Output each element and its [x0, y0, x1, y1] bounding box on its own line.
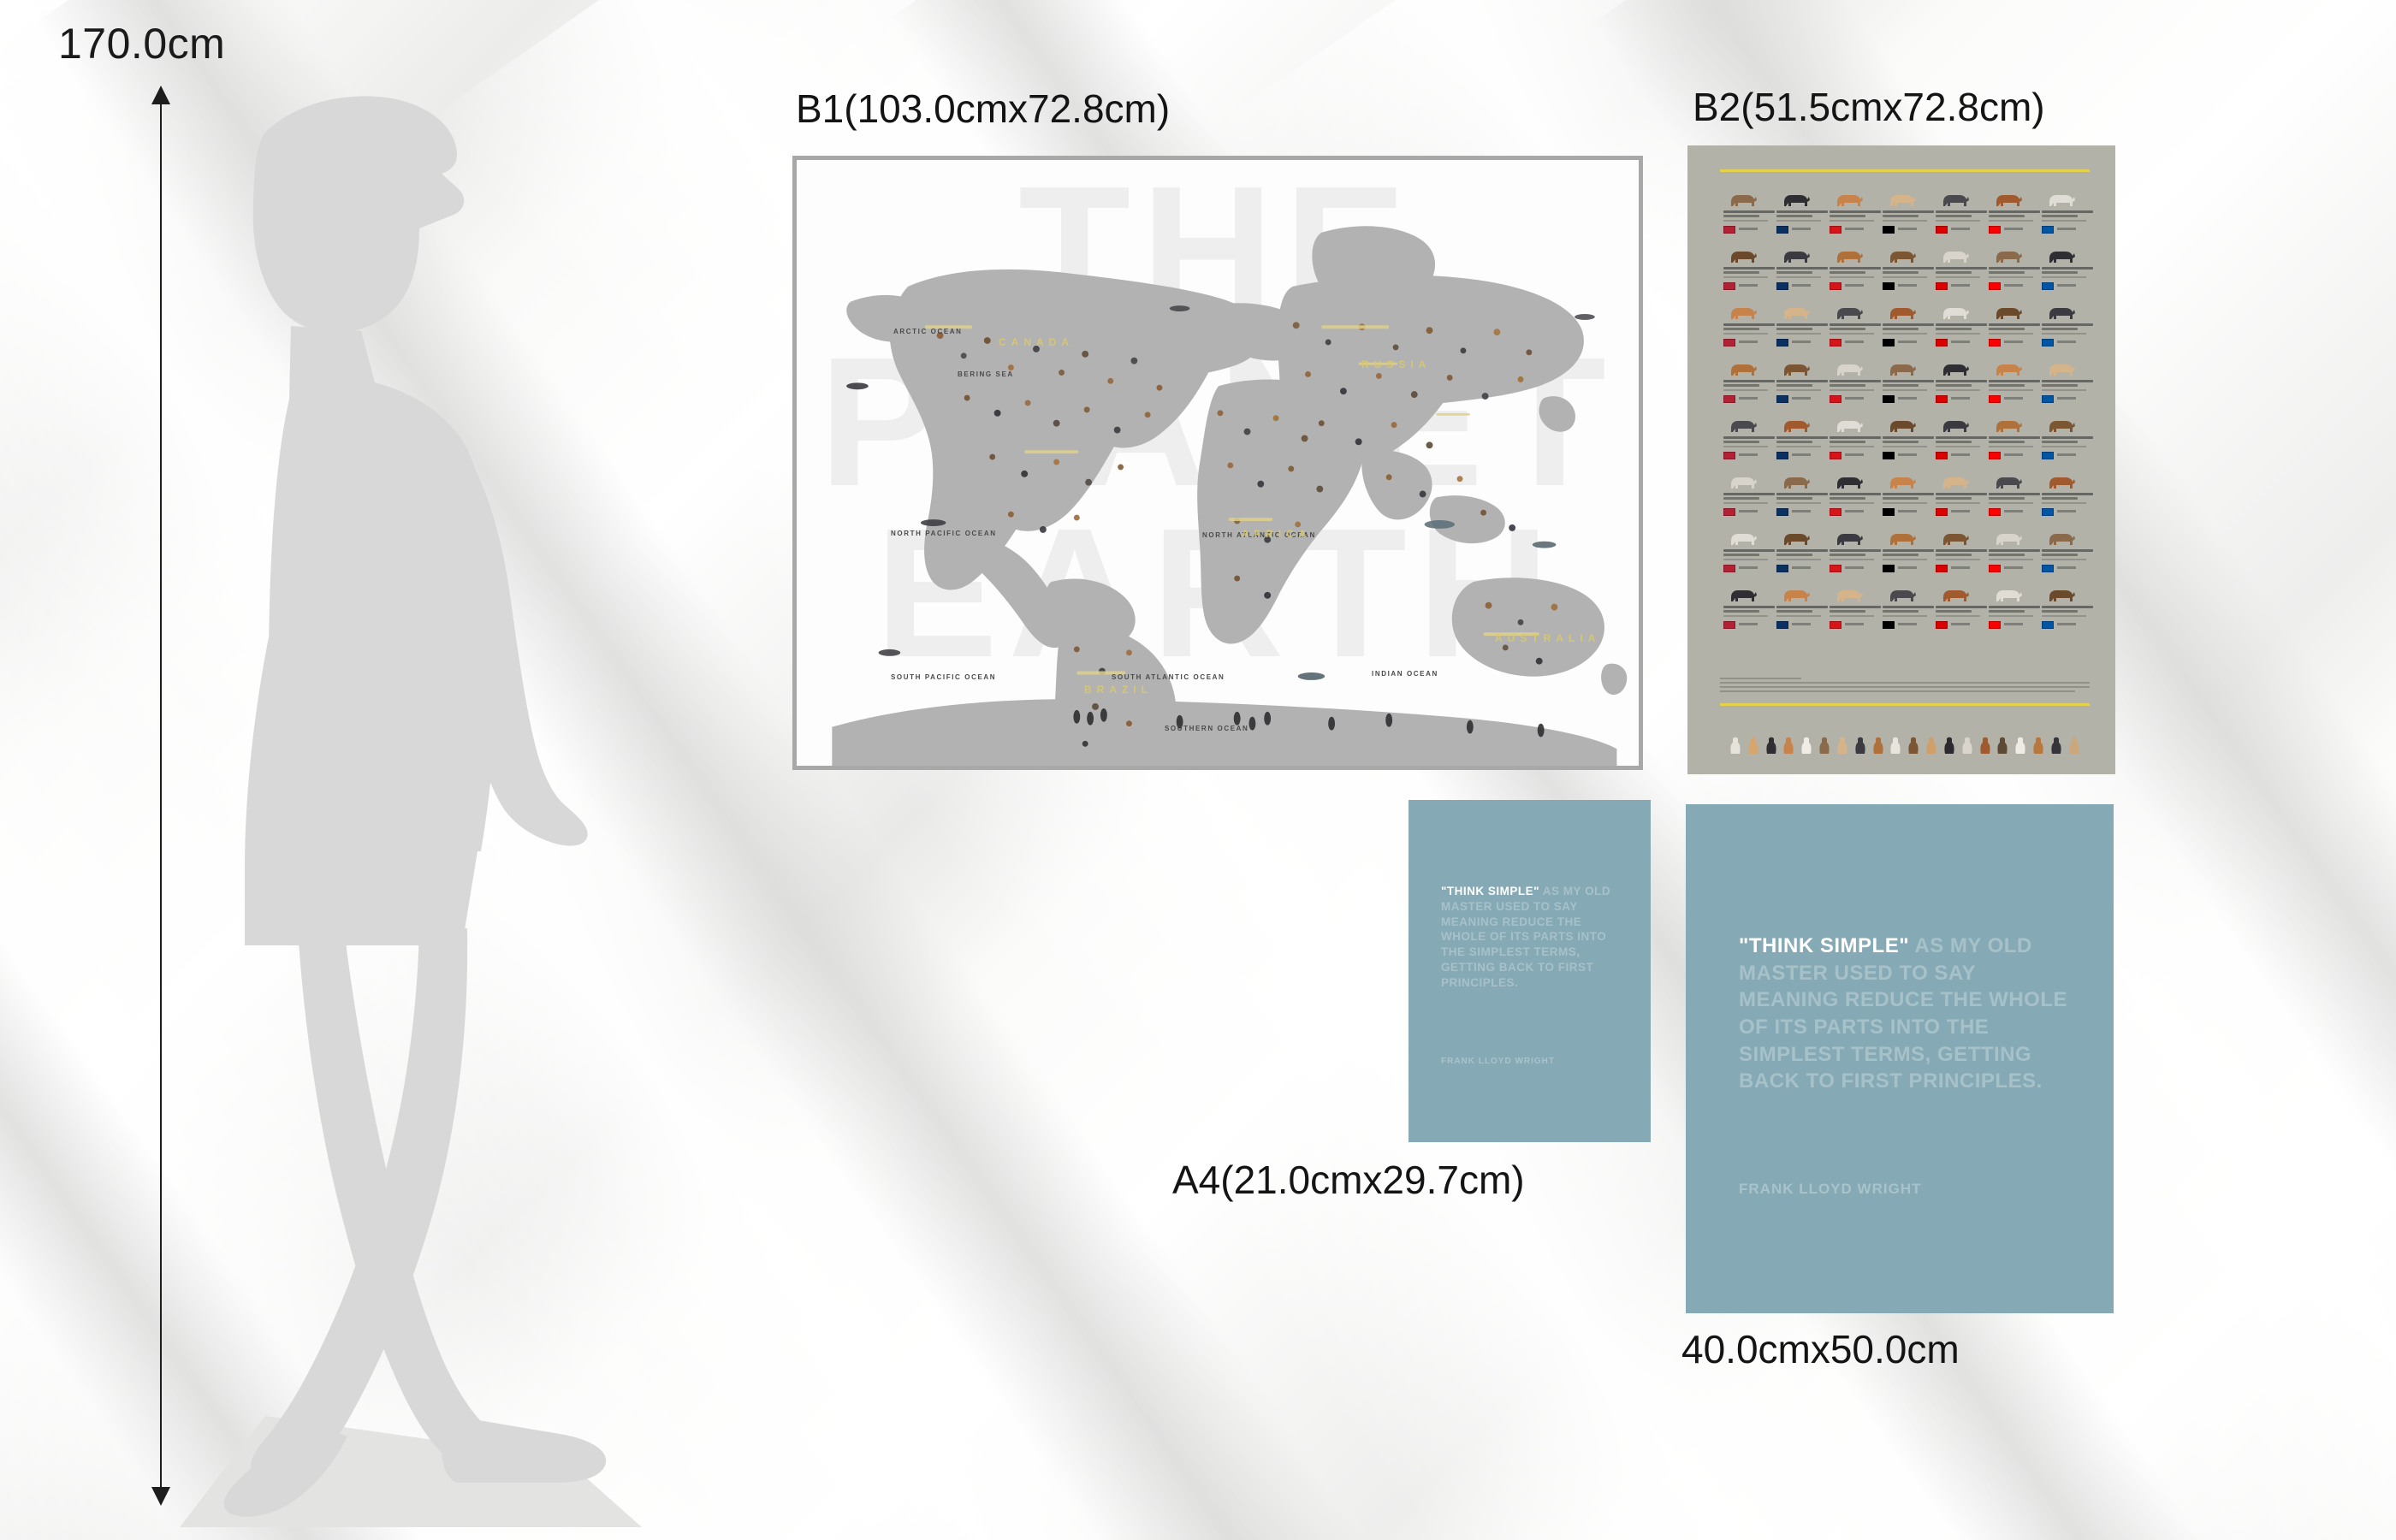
continent-label-australia: AUSTRALIA — [1495, 632, 1600, 644]
dog-illustration — [1937, 471, 1972, 491]
dog-illustration — [1831, 471, 1865, 491]
dog-breed-meta — [1792, 453, 1811, 456]
dog-breed-name-line — [1723, 380, 1775, 382]
dog-breed-name-line — [1776, 497, 1812, 500]
dog-breed-name-line — [1989, 559, 2033, 560]
dog-illustration — [1778, 471, 1812, 491]
dog-illustration — [2043, 583, 2078, 604]
dog-breed-cell — [2038, 243, 2090, 296]
dog-breed-name-line — [1830, 210, 1881, 213]
height-measurement-arrow — [144, 86, 178, 1506]
dog-illustration — [1884, 414, 1919, 435]
dog-illustration — [1937, 188, 1972, 209]
dog-breed-meta — [1898, 566, 1917, 569]
dog-breed-cell — [2038, 356, 2090, 409]
dog-breed-meta — [1792, 397, 1811, 400]
dog-breed-cell — [1879, 187, 1930, 240]
dog-breed-name-line — [1776, 220, 1821, 222]
dog-breed-name-line — [1830, 610, 1865, 613]
dog-breed-name-line — [1883, 328, 1919, 330]
dog-silhouette-icon — [1782, 736, 1795, 755]
dog-breed-meta — [1739, 284, 1758, 287]
dog-breed-name-line — [1723, 610, 1759, 613]
dog-breed-name-line — [1989, 328, 2025, 330]
dog-breed-meta — [1845, 623, 1864, 625]
dog-breed-cell — [1879, 243, 1930, 296]
country-flag-icon — [1936, 621, 1948, 629]
dog-breed-name-line — [1776, 210, 1828, 213]
dog-illustration — [1778, 414, 1812, 435]
country-flag-icon — [1883, 395, 1895, 403]
dog-breed-name-line — [1883, 267, 1934, 269]
quote-rest-a4: AS MY OLD MASTER USED TO SAY MEANING RED… — [1441, 885, 1610, 989]
dog-breed-name-line — [1776, 271, 1812, 274]
quote-attribution-a4: FRANK LLOYD WRIGHT — [1441, 1057, 1555, 1066]
background-stripe-1 — [0, 0, 652, 1540]
country-flag-icon — [1989, 565, 2001, 572]
country-flag-icon — [1989, 339, 2001, 346]
dog-breed-meta — [1739, 228, 1758, 230]
dog-breed-name-line — [2042, 215, 2078, 217]
dog-breed-name-line — [1830, 323, 1881, 326]
dog-breed-name-line — [1989, 610, 2025, 613]
dog-breed-name-line — [1723, 276, 1768, 278]
dog-breed-name-line — [1883, 220, 1927, 222]
dog-breed-name-line — [1883, 497, 1919, 500]
dog-breed-meta — [1739, 397, 1758, 400]
dog-illustration — [1937, 527, 1972, 548]
dog-breed-name-line — [1776, 615, 1821, 617]
dog-breed-name-line — [1936, 220, 1980, 222]
dog-breed-name-line — [1723, 220, 1768, 222]
ocean-label-indian: INDIAN OCEAN — [1372, 670, 1438, 678]
country-flag-icon — [1989, 395, 2001, 403]
dog-breed-name-line — [1776, 559, 1821, 560]
dog-breed-name-line — [1830, 554, 1865, 556]
dog-breed-name-line — [1936, 384, 1972, 387]
dog-breed-name-line — [2042, 502, 2086, 504]
dog-breed-cell — [1879, 525, 1930, 578]
dog-breed-name-line — [1776, 380, 1828, 382]
dog-breed-name-line — [1723, 271, 1759, 274]
dog-breed-name-line — [2042, 606, 2093, 608]
dog-breed-name-line — [1776, 389, 1821, 391]
dog-illustration — [1884, 583, 1919, 604]
poster-label-b1: B1(103.0cmx72.8cm) — [796, 86, 1170, 132]
dog-illustration — [1884, 358, 1919, 378]
dog-illustration — [1990, 414, 2025, 435]
quote-text-40x50: "THINK SIMPLE" AS MY OLD MASTER USED TO … — [1739, 933, 2073, 1095]
dog-breed-cell — [1773, 299, 1824, 352]
dog-breed-name-line — [1830, 497, 1865, 500]
dog-breed-name-line — [1723, 267, 1775, 269]
dog-illustration — [1831, 245, 1865, 265]
dog-illustration — [1725, 301, 1759, 322]
dog-breed-name-line — [1830, 384, 1865, 387]
country-flag-icon — [1723, 226, 1735, 234]
dog-breed-name-line — [1936, 328, 1972, 330]
dog-breed-meta — [1792, 284, 1811, 287]
dog-breed-meta — [2057, 510, 2076, 512]
dog-breed-meta — [1845, 341, 1864, 343]
dog-breed-name-line — [2042, 436, 2093, 439]
continent-label-africa: AFRICA — [1242, 528, 1311, 540]
dog-breed-name-line — [2042, 559, 2086, 560]
dog-breed-name-line — [1989, 380, 2040, 382]
accent-rule-top — [1720, 169, 2090, 172]
dog-breed-meta — [1898, 453, 1917, 456]
dog-silhouette-icon — [1907, 736, 1920, 755]
dog-silhouette-icon — [1889, 736, 1902, 755]
dog-breed-name-line — [1883, 271, 1919, 274]
dog-breed-name-line — [1830, 220, 1874, 222]
ocean-label-bering: BERING SEA — [958, 370, 1014, 378]
dog-illustration — [1937, 301, 1972, 322]
dog-breed-meta — [2057, 453, 2076, 456]
dog-breed-cell — [1932, 299, 1984, 352]
dog-breed-meta — [2004, 566, 2023, 569]
dog-silhouette-icon — [1996, 736, 2009, 755]
dog-breed-name-line — [1723, 497, 1759, 500]
dog-breed-meta — [2057, 623, 2076, 625]
dog-breed-name-line — [1830, 267, 1881, 269]
dog-illustration — [1725, 358, 1759, 378]
country-flag-icon — [1776, 508, 1788, 516]
dog-silhouette-icon — [1871, 736, 1885, 755]
dog-illustration — [2043, 301, 2078, 322]
quote-text-a4: "THINK SIMPLE" AS MY OLD MASTER USED TO … — [1441, 884, 1625, 991]
dog-breed-meta — [1951, 453, 1970, 456]
dog-breed-name-line — [1830, 493, 1881, 495]
dog-breed-name-line — [1830, 446, 1874, 447]
dog-illustration — [1831, 414, 1865, 435]
dog-silhouette-icon — [1747, 736, 1760, 755]
dog-breed-name-line — [1989, 389, 2033, 391]
dog-breed-name-line — [2042, 328, 2078, 330]
country-flag-icon — [1723, 395, 1735, 403]
country-flag-icon — [1989, 508, 2001, 516]
dog-breed-name-line — [1776, 323, 1828, 326]
dog-breed-meta — [1792, 510, 1811, 512]
dog-breed-name-line — [1883, 215, 1919, 217]
dog-breed-cell — [1720, 243, 1771, 296]
dog-breed-name-line — [1723, 323, 1775, 326]
country-flag-icon — [2042, 621, 2054, 629]
dog-breed-meta — [1739, 623, 1758, 625]
dog-illustration — [1884, 245, 1919, 265]
dog-breed-name-line — [1936, 380, 1987, 382]
dog-breed-meta — [1898, 228, 1917, 230]
arrow-head-bottom — [151, 1487, 170, 1506]
dog-silhouette-icon — [2013, 736, 2027, 755]
dog-illustration — [2043, 358, 2078, 378]
dog-breed-cell — [1985, 299, 2037, 352]
dog-breed-name-line — [1989, 441, 2025, 443]
dog-breed-name-line — [1723, 384, 1759, 387]
dog-illustration — [1778, 188, 1812, 209]
dog-breed-name-line — [2042, 610, 2078, 613]
dog-breed-name-line — [1989, 446, 2033, 447]
dog-breed-name-line — [1723, 389, 1768, 391]
dog-breed-name-line — [1936, 271, 1972, 274]
dog-silhouette-strip — [1729, 720, 2081, 755]
dog-breed-meta — [1845, 566, 1864, 569]
dog-breed-name-line — [1776, 441, 1812, 443]
dog-breed-name-line — [1776, 493, 1828, 495]
dog-breed-meta — [1951, 510, 1970, 512]
dog-breed-cell — [2038, 187, 2090, 240]
dog-illustration — [1778, 358, 1812, 378]
continent-label-canada: CANADA — [999, 336, 1074, 348]
dog-breed-name-line — [1989, 502, 2033, 504]
dog-breed-name-line — [1936, 549, 1987, 552]
country-flag-icon — [1723, 452, 1735, 459]
dog-breed-name-line — [1830, 328, 1865, 330]
quote-attribution-40x50: FRANK LLOYD WRIGHT — [1739, 1181, 1921, 1198]
dog-breed-name-line — [1723, 606, 1775, 608]
dog-breed-name-line — [1776, 333, 1821, 335]
dog-illustration — [1990, 471, 2025, 491]
dog-breed-name-line — [1936, 493, 1987, 495]
dog-breed-name-line — [1883, 615, 1927, 617]
poster-40x50-quote[interactable]: "THINK SIMPLE" AS MY OLD MASTER USED TO … — [1686, 804, 2114, 1313]
dog-breed-name-line — [1723, 493, 1775, 495]
country-flag-icon — [2042, 395, 2054, 403]
dog-breed-cell — [1826, 187, 1877, 240]
dog-breed-cell — [1985, 469, 2037, 522]
dog-breed-meta — [2004, 453, 2023, 456]
dog-illustration — [1884, 471, 1919, 491]
dog-breed-name-line — [1776, 606, 1828, 608]
dog-breed-cell — [1879, 356, 1930, 409]
dog-breed-meta — [2004, 397, 2023, 400]
poster-b1-world-map[interactable]: THE PLANET EARTH — [792, 156, 1643, 770]
dog-breed-cell — [1720, 412, 1771, 465]
human-scale-silhouette — [163, 81, 864, 1527]
country-flag-icon — [1723, 565, 1735, 572]
dog-breed-name-line — [1830, 615, 1874, 617]
dog-breed-meta — [1845, 453, 1864, 456]
country-flag-icon — [1776, 226, 1788, 234]
dog-breed-name-line — [1936, 267, 1987, 269]
dog-breed-name-line — [1776, 276, 1821, 278]
dog-breed-meta — [2057, 284, 2076, 287]
dog-breed-name-line — [1776, 549, 1828, 552]
dog-breed-name-line — [1989, 215, 2025, 217]
country-flag-icon — [1776, 395, 1788, 403]
ocean-label-southern: SOUTHERN OCEAN — [1165, 725, 1248, 732]
dog-illustration — [1831, 583, 1865, 604]
dog-breed-name-line — [1883, 549, 1934, 552]
dog-breed-name-line — [1776, 436, 1828, 439]
country-flag-icon — [1723, 339, 1735, 346]
dog-breed-name-line — [1989, 271, 2025, 274]
dog-breed-meta — [1792, 566, 1811, 569]
dog-breed-cell — [1932, 356, 1984, 409]
dog-breed-meta — [1951, 341, 1970, 343]
dog-breed-name-line — [1883, 606, 1934, 608]
dog-breed-cell — [1773, 187, 1824, 240]
dog-breed-name-line — [1936, 276, 1980, 278]
dog-breed-meta — [1951, 228, 1970, 230]
dog-breed-name-line — [2042, 441, 2078, 443]
dog-breed-name-line — [1830, 436, 1881, 439]
poster-label-b2: B2(51.5cmx72.8cm) — [1693, 84, 2045, 130]
dog-breed-meta — [1792, 228, 1811, 230]
country-flag-icon — [1723, 282, 1735, 290]
country-flag-icon — [2042, 452, 2054, 459]
dog-breed-name-line — [1936, 559, 1980, 560]
dog-breed-name-line — [1776, 328, 1812, 330]
dog-breed-name-line — [1830, 389, 1874, 391]
ocean-label-south-atlantic: SOUTH ATLANTIC OCEAN — [1112, 673, 1225, 681]
dog-breed-name-line — [1883, 559, 1927, 560]
poster-b2-dog-breeds[interactable] — [1687, 145, 2115, 774]
quote-lead-a4: "THINK SIMPLE" — [1441, 885, 1539, 897]
dog-illustration — [1725, 527, 1759, 548]
dog-breed-name-line — [1723, 559, 1768, 560]
dog-illustration — [1725, 414, 1759, 435]
dog-breed-meta — [1739, 510, 1758, 512]
dog-breed-name-line — [1830, 333, 1874, 335]
dog-breed-cell — [1985, 525, 2037, 578]
dog-breed-cell — [2038, 469, 2090, 522]
dog-illustration — [1778, 245, 1812, 265]
dog-breed-name-line — [1776, 384, 1812, 387]
dog-illustration — [1725, 471, 1759, 491]
dog-silhouette-icon — [1818, 736, 1831, 755]
country-flag-icon — [2042, 565, 2054, 572]
dog-illustration — [1937, 583, 1972, 604]
dog-illustration — [1831, 527, 1865, 548]
country-flag-icon — [1776, 621, 1788, 629]
dog-breed-name-line — [2042, 271, 2078, 274]
comparison-stage: 170.0cm — [0, 0, 2396, 1540]
country-flag-icon — [1936, 452, 1948, 459]
dog-breed-name-line — [1936, 210, 1987, 213]
dog-illustration — [2043, 188, 2078, 209]
dog-breed-meta — [2004, 510, 2023, 512]
dog-breed-meta — [2057, 341, 2076, 343]
dog-breed-name-line — [2042, 493, 2093, 495]
country-flag-icon — [2042, 226, 2054, 234]
dog-breed-cell — [1773, 582, 1824, 635]
world-map-artwork: ARCTIC OCEAN BERING SEA NORTH PACIFIC OC… — [797, 160, 1639, 766]
dog-illustration — [1725, 583, 1759, 604]
dog-breed-meta — [1898, 341, 1917, 343]
dog-breed-name-line — [1989, 615, 2033, 617]
dog-breed-meta — [1739, 341, 1758, 343]
dog-breed-name-line — [1830, 271, 1865, 274]
poster-a4-quote[interactable]: "THINK SIMPLE" AS MY OLD MASTER USED TO … — [1409, 800, 1651, 1142]
country-flag-icon — [1830, 508, 1841, 516]
dog-silhouette-icon — [2067, 736, 2081, 755]
dog-illustration — [1831, 301, 1865, 322]
country-flag-icon — [1883, 565, 1895, 572]
dog-breed-name-line — [2042, 323, 2093, 326]
dog-breed-cell — [2038, 582, 2090, 635]
dog-illustration — [1884, 527, 1919, 548]
dog-breed-meta — [1898, 510, 1917, 512]
dog-silhouette-icon — [1960, 736, 1974, 755]
country-flag-icon — [1830, 226, 1841, 234]
country-flag-icon — [1723, 621, 1735, 629]
dog-breed-cell — [1773, 356, 1824, 409]
country-flag-icon — [1830, 621, 1841, 629]
dog-breed-cell — [1720, 469, 1771, 522]
country-flag-icon — [1936, 226, 1948, 234]
dog-breed-name-line — [1989, 384, 2025, 387]
dog-breed-cell — [1879, 412, 1930, 465]
dog-breed-name-line — [1776, 267, 1828, 269]
dog-breed-cell — [1720, 356, 1771, 409]
dog-breed-cell — [1879, 582, 1930, 635]
dog-breed-meta — [1951, 397, 1970, 400]
dog-breed-name-line — [2042, 549, 2093, 552]
dog-breed-name-line — [1776, 502, 1821, 504]
dog-breed-name-line — [1936, 436, 1987, 439]
dog-breed-name-line — [1883, 210, 1934, 213]
dog-breed-name-line — [1883, 380, 1934, 382]
dog-breed-name-line — [1830, 502, 1874, 504]
dog-illustration — [1884, 188, 1919, 209]
country-flag-icon — [2042, 339, 2054, 346]
dog-breed-name-line — [1776, 610, 1812, 613]
dog-breed-name-line — [1936, 323, 1987, 326]
dog-illustration — [1990, 527, 2025, 548]
country-flag-icon — [1936, 508, 1948, 516]
dog-breed-name-line — [1723, 554, 1759, 556]
country-flag-icon — [1936, 339, 1948, 346]
dog-breed-cell — [1826, 412, 1877, 465]
dog-breed-name-line — [1883, 554, 1919, 556]
country-flag-icon — [1830, 395, 1841, 403]
dog-breed-meta — [1898, 397, 1917, 400]
country-flag-icon — [1883, 621, 1895, 629]
dog-breed-meta — [2004, 284, 2023, 287]
dog-breed-name-line — [1830, 559, 1874, 560]
country-flag-icon — [1989, 226, 2001, 234]
dog-breed-name-line — [2042, 267, 2093, 269]
dog-illustration — [2043, 527, 2078, 548]
quote-rest-40x50: AS MY OLD MASTER USED TO SAY MEANING RED… — [1739, 934, 2067, 1093]
dog-breed-name-line — [1830, 215, 1865, 217]
quote-lead-40x50: "THINK SIMPLE" — [1739, 934, 1909, 957]
dog-breed-cell — [2038, 412, 2090, 465]
country-flag-icon — [1989, 282, 2001, 290]
dog-silhouette-icon — [1853, 736, 1867, 755]
poster-label-a4: A4(21.0cmx29.7cm) — [1172, 1157, 1525, 1203]
dog-breed-name-line — [1883, 436, 1934, 439]
dog-breed-name-line — [1830, 441, 1865, 443]
dog-breed-name-line — [1723, 615, 1768, 617]
dog-breed-cell — [1826, 243, 1877, 296]
dog-breed-name-line — [2042, 446, 2086, 447]
dog-breed-name-line — [1936, 606, 1987, 608]
dog-breed-name-line — [1936, 615, 1980, 617]
dog-breed-name-line — [2042, 554, 2078, 556]
dog-breed-name-line — [1989, 276, 2033, 278]
dog-breed-meta — [2057, 228, 2076, 230]
dog-breed-cell — [1985, 356, 2037, 409]
dog-silhouette-icon — [2031, 736, 2045, 755]
country-flag-icon — [2042, 282, 2054, 290]
dog-breed-name-line — [1936, 441, 1972, 443]
dog-breed-name-line — [1883, 493, 1934, 495]
dog-breed-meta — [1898, 284, 1917, 287]
dog-breed-name-line — [2042, 333, 2086, 335]
dog-breed-cell — [1720, 187, 1771, 240]
